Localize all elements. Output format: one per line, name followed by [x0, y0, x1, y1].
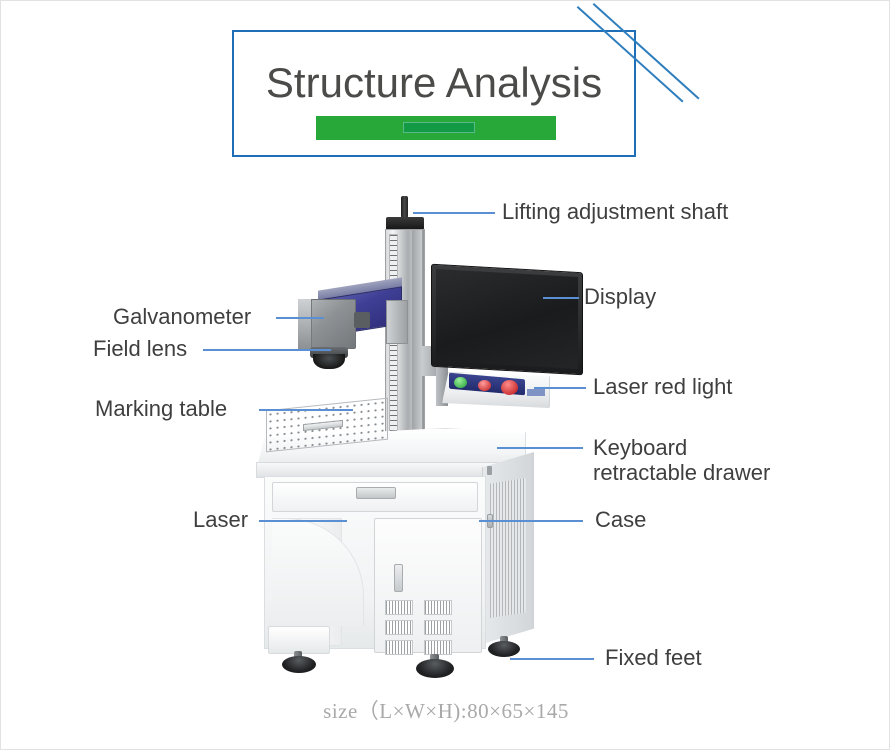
- leader-line-marking-table: [259, 409, 353, 411]
- door-vent-4: [424, 620, 452, 635]
- monitor-screen: [436, 269, 578, 369]
- cabinet-side-vent: [490, 478, 526, 618]
- door-vent-5: [385, 640, 413, 655]
- fixed-foot-right: [488, 641, 520, 657]
- cabinet-door-handle[interactable]: [394, 564, 403, 592]
- size-caption: size（L×W×H):80×65×145: [1, 695, 890, 725]
- laser-mount-bracket: [386, 300, 408, 344]
- label-case: Case: [595, 507, 646, 533]
- label-galvanometer: Galvanometer: [113, 304, 251, 330]
- galvanometer-connector: [354, 312, 370, 328]
- label-marking-table: Marking table: [95, 396, 227, 422]
- leader-line-galvanometer: [276, 317, 324, 319]
- leader-line-lifting-adjustment-shaft: [413, 212, 495, 214]
- laser-marking-machine-illustration: [246, 196, 606, 666]
- page-title: Structure Analysis: [232, 56, 636, 110]
- leader-line-field-lens: [203, 349, 331, 351]
- leader-line-display: [543, 297, 579, 299]
- label-laser-red-light: Laser red light: [593, 374, 732, 400]
- cabinet-foot-plate: [268, 626, 330, 654]
- cabinet-side-lock: [487, 466, 492, 475]
- galvanometer-front-face: [298, 299, 312, 349]
- field-lens: [313, 354, 345, 369]
- lifting-shaft-stem: [401, 196, 408, 218]
- laser-button-red: [478, 380, 491, 391]
- leader-line-case: [479, 520, 583, 522]
- label-laser: Laser: [193, 507, 248, 533]
- leader-line-fixed-feet: [510, 658, 594, 660]
- door-vent-3: [385, 620, 413, 635]
- title-underline-bar-inner: [403, 122, 475, 133]
- label-display: Display: [584, 284, 656, 310]
- door-vent-1: [385, 600, 413, 615]
- emergency-stop-button: [501, 380, 518, 395]
- leader-line-laser: [259, 520, 347, 522]
- label-lifting-adjustment-shaft: Lifting adjustment shaft: [502, 199, 728, 225]
- column-shadow-face: [412, 230, 422, 454]
- keyboard-drawer-handle[interactable]: [356, 487, 396, 499]
- leader-line-laser-red-light: [534, 387, 586, 389]
- door-vent-2: [424, 600, 452, 615]
- structure-analysis-diagram: Structure Analysis: [0, 0, 890, 750]
- fixed-foot-front: [416, 659, 454, 678]
- label-field-lens: Field lens: [93, 336, 187, 362]
- power-button-green: [454, 377, 467, 388]
- label-keyboard-retractable-drawer-line1: Keyboard: [593, 435, 687, 461]
- leader-line-keyboard-retractable-drawer: [497, 447, 583, 449]
- fixed-foot-left: [282, 656, 316, 673]
- control-panel-label-plate: [527, 389, 545, 396]
- label-keyboard-retractable-drawer-line2: retractable drawer: [593, 460, 770, 486]
- door-vent-6: [424, 640, 452, 655]
- label-fixed-feet: Fixed feet: [605, 645, 702, 671]
